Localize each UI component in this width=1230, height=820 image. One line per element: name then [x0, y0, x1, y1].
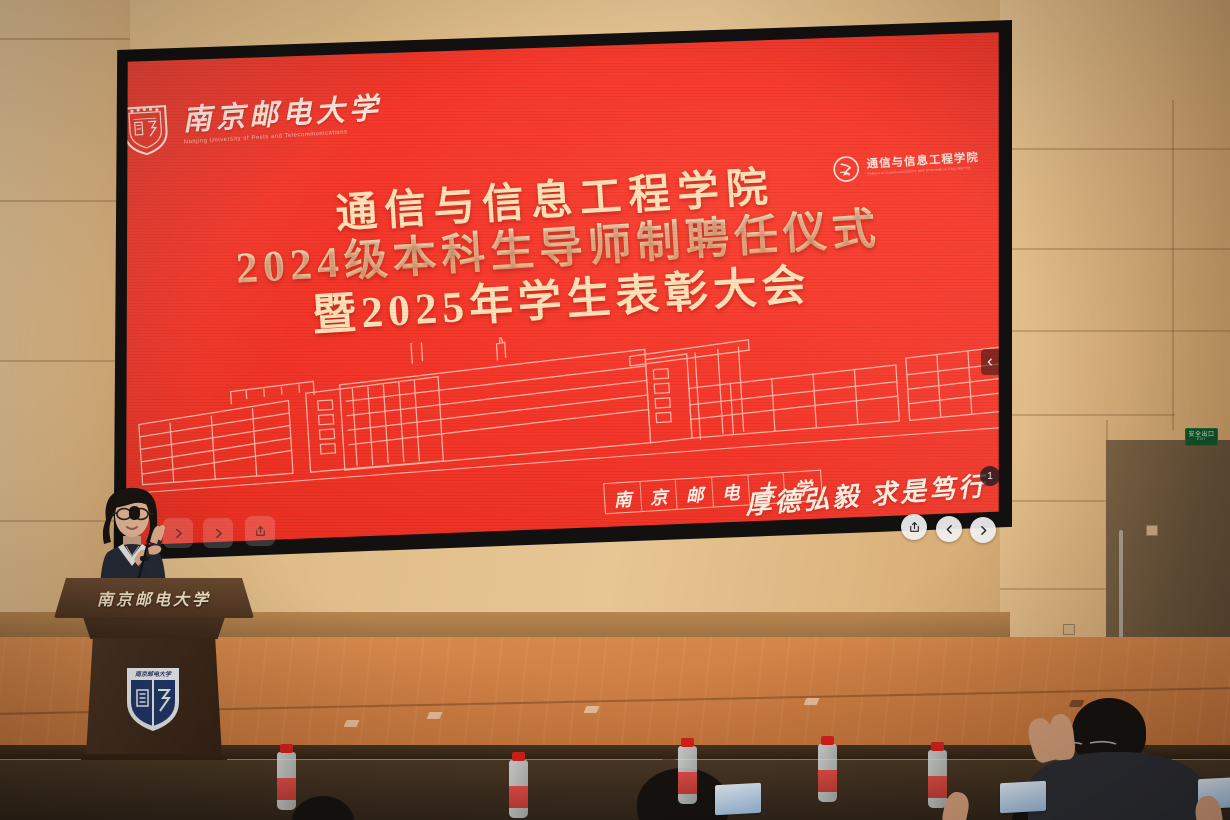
bottle-label	[277, 778, 296, 800]
exit-sign-label-en: EXIT	[1197, 438, 1206, 442]
bottle-label	[818, 770, 837, 792]
water-bottle	[678, 746, 697, 804]
chevron-right-icon	[172, 527, 185, 540]
calligraphy-char: 京	[640, 480, 678, 511]
podium-neck	[80, 617, 228, 639]
bottle-cap	[280, 744, 293, 753]
bottle-label	[509, 786, 528, 808]
wall-seam	[1000, 148, 1230, 150]
wall-socket	[1063, 624, 1075, 635]
name-card	[1000, 781, 1046, 813]
bottle-label	[678, 772, 697, 794]
wall-seam	[1000, 500, 1110, 502]
audience-row	[0, 700, 1230, 820]
water-bottle	[818, 744, 837, 802]
wall-seam	[0, 200, 130, 202]
bottle-cap	[931, 742, 944, 751]
photo-scene: 安全出口 EXIT	[0, 0, 1230, 820]
clapping-hand	[1048, 713, 1077, 761]
wall-seam	[1000, 588, 1110, 590]
audience-head	[292, 796, 354, 820]
share-button[interactable]	[901, 514, 927, 540]
university-name-block: 南京邮电大学 Nanjing University of Posts and T…	[182, 95, 384, 146]
microphone-head	[129, 506, 140, 520]
chevron-right-icon	[212, 527, 225, 540]
svg-text:南京邮电大学: 南京邮电大学	[135, 670, 172, 678]
calligraphy-char: 邮	[676, 477, 714, 508]
name-card	[715, 783, 761, 815]
wall-seam	[1000, 248, 1230, 250]
wall-seam	[0, 38, 130, 40]
wall-seam	[0, 360, 130, 362]
door-handle[interactable]	[1119, 530, 1123, 650]
wall-socket	[1146, 525, 1158, 536]
bottle-cap	[512, 752, 525, 761]
calligraphy-char: 南	[604, 482, 642, 513]
bottle-cap	[821, 736, 834, 745]
led-screen: 南京邮电大学 Nanjing University of Posts and T…	[118, 28, 1004, 556]
ghost-next-button[interactable]	[163, 518, 193, 548]
chevron-left-icon	[985, 357, 995, 367]
university-brand: 南京邮电大学 Nanjing University of Posts and T…	[119, 86, 384, 158]
next-slide-button[interactable]	[970, 517, 996, 543]
chevron-right-icon	[977, 524, 990, 537]
audience-shoulder	[1028, 752, 1204, 820]
exit-sign: 安全出口 EXIT	[1185, 428, 1218, 446]
chevron-left-icon	[943, 523, 956, 536]
wall-seam	[1000, 414, 1175, 416]
ghost-play-button[interactable]	[203, 518, 233, 548]
podium-name-label: 南京邮电大学	[54, 586, 254, 610]
water-bottle	[277, 752, 296, 810]
bottle-label	[928, 776, 947, 798]
wall-seam-vertical	[1172, 100, 1174, 430]
page-number-badge[interactable]: 1	[980, 466, 1000, 486]
bottle-cap	[681, 738, 694, 747]
water-bottle	[509, 760, 528, 818]
panel-collapse-tab[interactable]	[981, 349, 999, 375]
water-bottle	[928, 750, 947, 808]
screen-content: 南京邮电大学 Nanjing University of Posts and T…	[118, 28, 1004, 556]
share-icon	[908, 521, 921, 534]
share-icon	[254, 525, 267, 538]
ghost-share-button[interactable]	[245, 516, 275, 546]
prev-slide-button[interactable]	[936, 516, 962, 542]
wall-seam	[1000, 330, 1230, 332]
